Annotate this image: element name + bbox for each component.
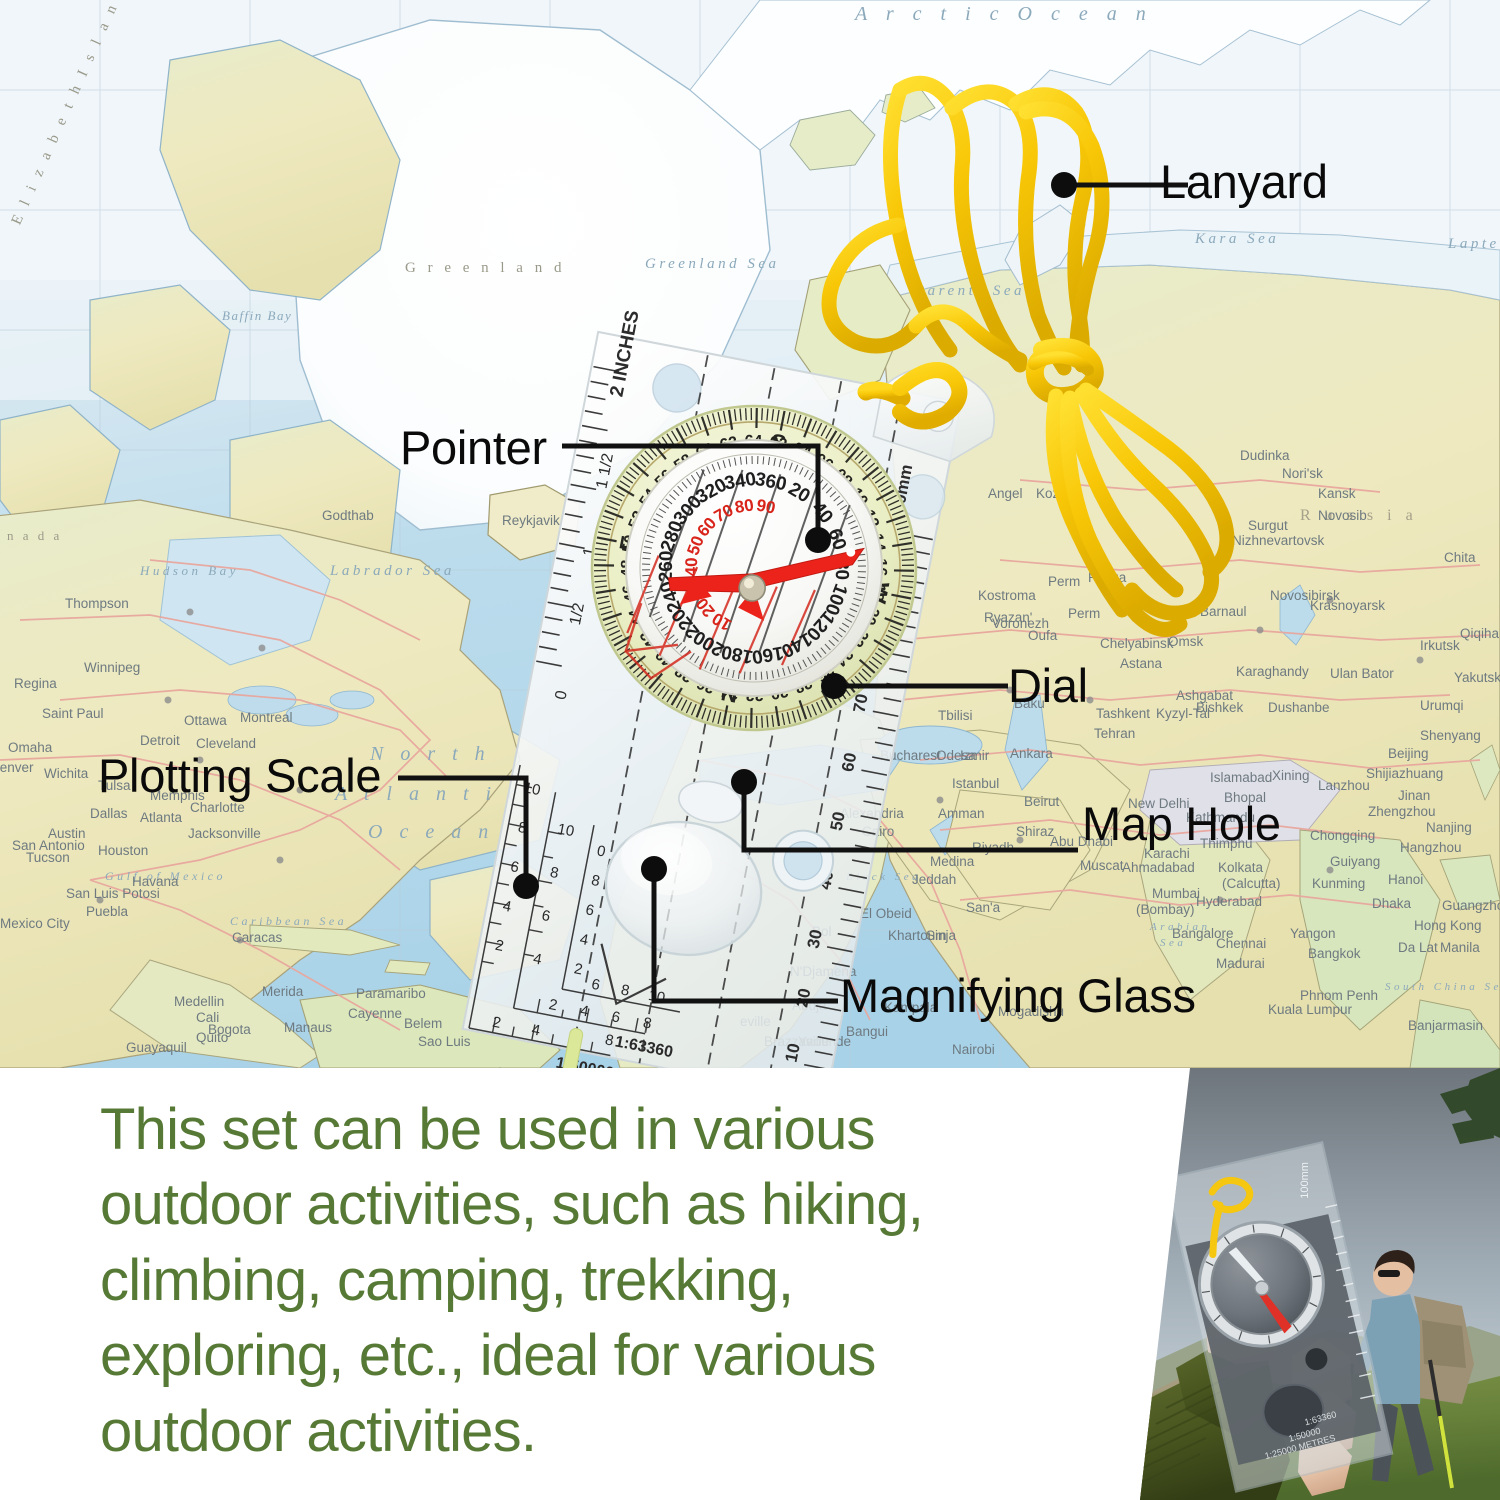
- svg-text:Zhengzhou: Zhengzhou: [1368, 804, 1436, 819]
- svg-text:Nanjing: Nanjing: [1426, 820, 1472, 835]
- svg-text:Ahmadabad: Ahmadabad: [1122, 860, 1195, 875]
- plotting-scale-leader-line: [396, 764, 544, 904]
- svg-text:Chennai: Chennai: [1216, 936, 1266, 951]
- svg-text:A r c t i c O c e a n: A r c t i c O c e a n: [853, 3, 1153, 25]
- svg-text:Saint Paul: Saint Paul: [42, 706, 104, 721]
- svg-text:Dushanbe: Dushanbe: [1268, 700, 1330, 715]
- map-hole-leader-line: [730, 768, 1080, 868]
- callout-label-magnifying-glass: Magnifying Glass: [840, 972, 1196, 1019]
- svg-text:Denver: Denver: [0, 760, 34, 775]
- svg-text:Hong Kong: Hong Kong: [1414, 918, 1482, 933]
- svg-text:Hangzhou: Hangzhou: [1400, 840, 1462, 855]
- svg-text:(Calcutta): (Calcutta): [1222, 876, 1281, 891]
- svg-text:Guayaquil: Guayaquil: [126, 1040, 187, 1055]
- svg-text:Manila: Manila: [1440, 940, 1480, 955]
- svg-text:Regina: Regina: [14, 676, 57, 691]
- svg-text:Guiyang: Guiyang: [1330, 854, 1380, 869]
- svg-text:Kunming: Kunming: [1312, 876, 1365, 891]
- svg-text:Thompson: Thompson: [65, 596, 129, 611]
- svg-text:Godthab: Godthab: [322, 508, 374, 523]
- svg-text:Atlanta: Atlanta: [140, 810, 183, 825]
- svg-text:Manaus: Manaus: [284, 1020, 332, 1035]
- svg-text:Urumqi: Urumqi: [1420, 698, 1464, 713]
- svg-text:Guangzhou: Guangzhou: [1442, 898, 1500, 913]
- svg-text:San Luis Potosi: San Luis Potosi: [66, 886, 160, 901]
- svg-text:Caribbean Sea: Caribbean Sea: [230, 914, 347, 928]
- svg-text:(Bombay): (Bombay): [1136, 902, 1195, 917]
- svg-text:Kuala Lumpur: Kuala Lumpur: [1268, 1002, 1353, 1017]
- svg-text:South China Sea: South China Sea: [1385, 981, 1500, 993]
- svg-text:Muscat: Muscat: [1080, 858, 1124, 873]
- svg-text:Quito: Quito: [196, 1030, 228, 1045]
- svg-text:Shenyang: Shenyang: [1420, 728, 1481, 743]
- product-infographic: A r c t i c O c e a n Greenland Sea Bare…: [0, 0, 1500, 1500]
- svg-text:Irkutsk: Irkutsk: [1420, 638, 1460, 653]
- svg-text:Caracas: Caracas: [232, 930, 283, 945]
- svg-text:Banjarmasin: Banjarmasin: [1408, 1018, 1483, 1033]
- svg-text:Winnipeg: Winnipeg: [84, 660, 140, 675]
- dial-leader-line: [820, 662, 1010, 712]
- svg-text:Puebla: Puebla: [86, 904, 129, 919]
- svg-text:Chongqing: Chongqing: [1310, 828, 1375, 843]
- svg-text:Merida: Merida: [262, 984, 304, 999]
- callout-label-lanyard: Lanyard: [1160, 158, 1328, 205]
- svg-text:Ulan Bator: Ulan Bator: [1330, 666, 1394, 681]
- magnifying-glass-leader-line: [640, 855, 840, 1015]
- svg-text:Charlotte: Charlotte: [190, 800, 245, 815]
- svg-text:Mumbai: Mumbai: [1152, 886, 1200, 901]
- svg-text:Tucson: Tucson: [26, 850, 70, 865]
- svg-text:Krasnoyarsk: Krasnoyarsk: [1310, 598, 1385, 613]
- svg-text:Beijing: Beijing: [1388, 746, 1429, 761]
- svg-text:Baffin Bay: Baffin Bay: [222, 308, 292, 323]
- lanyard-bundle: [820, 50, 1300, 670]
- svg-text:Da Lat: Da Lat: [1398, 940, 1438, 955]
- callout-label-pointer: Pointer: [400, 424, 547, 471]
- svg-text:Jacksonville: Jacksonville: [188, 826, 261, 841]
- svg-text:Houston: Houston: [98, 843, 148, 858]
- svg-text:Madurai: Madurai: [1216, 956, 1265, 971]
- svg-text:Hudson Bay: Hudson Bay: [139, 563, 239, 578]
- svg-text:Hanoi: Hanoi: [1388, 872, 1423, 887]
- svg-text:Kansk: Kansk: [1318, 486, 1356, 501]
- callout-label-dial: Dial: [1008, 662, 1088, 709]
- promo-panel: This set can be used in various outdoor …: [0, 1068, 1500, 1500]
- svg-text:Novosib: Novosib: [1318, 508, 1367, 523]
- svg-text:Yangon: Yangon: [1290, 926, 1336, 941]
- svg-text:Chita: Chita: [1444, 550, 1476, 565]
- svg-text:Dhaka: Dhaka: [1372, 896, 1412, 911]
- inset-mm-label: 100mm: [1299, 1162, 1311, 1199]
- svg-text:Ashgabat: Ashgabat: [1176, 688, 1233, 703]
- svg-text:Yakutsk: Yakutsk: [1454, 670, 1500, 685]
- svg-text:Greenland Sea: Greenland Sea: [645, 256, 780, 272]
- svg-text:Hyderabad: Hyderabad: [1196, 894, 1262, 909]
- svg-text:40: 40: [682, 557, 701, 576]
- promo-text: This set can be used in various outdoor …: [100, 1092, 1000, 1469]
- svg-text:Wichita: Wichita: [44, 766, 89, 781]
- svg-text:Medellin: Medellin: [174, 994, 224, 1009]
- svg-text:Omaha: Omaha: [8, 740, 53, 755]
- svg-text:Tashkent: Tashkent: [1096, 706, 1150, 721]
- svg-text:Kolkata: Kolkata: [1218, 860, 1264, 875]
- svg-text:Laptev: Laptev: [1447, 236, 1500, 252]
- svg-text:a n a d a: a n a d a: [0, 528, 62, 543]
- svg-text:Xining: Xining: [1272, 768, 1310, 783]
- svg-text:Detroit: Detroit: [140, 733, 180, 748]
- callout-label-plotting-scale: Plotting Scale: [98, 752, 381, 799]
- svg-text:Bangkok: Bangkok: [1308, 946, 1361, 961]
- hiker-photo-graphic: 100mm 1:25000 METRES 1:50000 1:63360: [1000, 1068, 1500, 1500]
- svg-text:10: 10: [782, 1042, 804, 1064]
- svg-text:Qiqihar: Qiqihar: [1460, 626, 1500, 641]
- callout-label-map-hole: Map Hole: [1082, 800, 1281, 847]
- svg-text:Montreal: Montreal: [240, 710, 293, 725]
- svg-text:G r e e n l a n d: G r e e n l a n d: [405, 260, 565, 276]
- svg-text:Lanzhou: Lanzhou: [1318, 778, 1370, 793]
- svg-text:Tehran: Tehran: [1094, 726, 1135, 741]
- svg-text:10: 10: [556, 820, 576, 840]
- svg-text:Mexico City: Mexico City: [0, 916, 70, 931]
- svg-text:Islamabad: Islamabad: [1210, 770, 1272, 785]
- svg-text:Ottawa: Ottawa: [184, 713, 227, 728]
- svg-text:Shijiazhuang: Shijiazhuang: [1366, 766, 1443, 781]
- pointer-leader-line: [560, 430, 840, 560]
- lifestyle-inset-photo: 100mm 1:25000 METRES 1:50000 1:63360: [1000, 1068, 1500, 1500]
- svg-text:Phnom Penh: Phnom Penh: [1300, 988, 1378, 1003]
- svg-text:Jinan: Jinan: [1398, 788, 1430, 803]
- svg-text:Dallas: Dallas: [90, 806, 128, 821]
